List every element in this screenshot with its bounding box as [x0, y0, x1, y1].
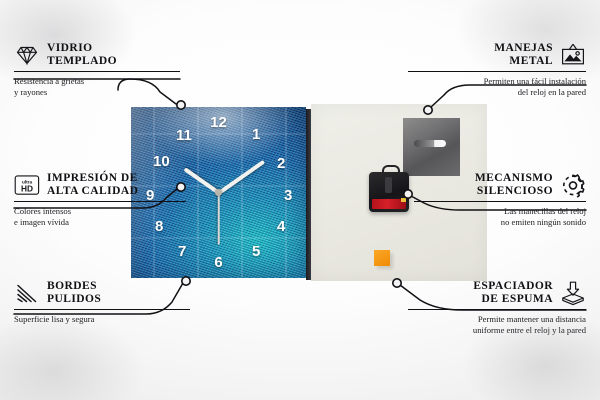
feature-title-line2: DE ESPUMA — [482, 293, 553, 305]
feature-rule — [14, 71, 180, 72]
feature-desc-line1: Resistencia a grietas — [14, 76, 84, 86]
feature-desc-line2: e imagen vívida — [14, 217, 69, 227]
feature-title-line1: BORDES — [47, 280, 97, 292]
feature-manejas-metal: MANEJAS METAL Permiten una fácil instala… — [396, 42, 586, 98]
callout-dot-vidrio — [177, 101, 185, 109]
feature-mecanismo-silencioso: MECANISMO SILENCIOSO Las manecillas del … — [396, 172, 586, 228]
feature-title-line1: MANEJAS — [494, 42, 553, 54]
feature-desc-line2: uniforme entre el reloj y la pared — [473, 325, 586, 335]
feature-rule — [408, 71, 586, 72]
polished-edges-icon — [14, 280, 40, 306]
feature-desc-line2: y rayones — [14, 87, 47, 97]
diamond-icon — [14, 42, 40, 68]
feature-description: Permite mantener una distancia uniforme … — [396, 314, 586, 335]
callout-dot-manejas — [424, 106, 432, 114]
feature-rule — [414, 201, 586, 202]
foam-spacer-arrow-icon — [560, 280, 586, 306]
feature-title: MECANISMO SILENCIOSO — [475, 172, 553, 197]
feature-desc-line1: Colores intensos — [14, 206, 71, 216]
feature-desc-line2: no emiten ningún sonido — [501, 217, 586, 227]
feature-title: VIDRIO TEMPLADO — [47, 42, 117, 67]
feature-description: Las manecillas del reloj no emiten ningú… — [396, 206, 586, 227]
feature-title-line1: VIDRIO — [47, 42, 93, 54]
feature-title-line2: METAL — [509, 55, 553, 67]
svg-text:HD: HD — [21, 183, 33, 193]
feature-description: Permiten una fácil instalación del reloj… — [396, 76, 586, 97]
feature-desc-line1: Permiten una fácil instalación — [484, 76, 586, 86]
ultra-hd-icon: ultra HD — [14, 172, 40, 198]
gear-icon — [560, 172, 586, 198]
feature-rule — [14, 309, 190, 310]
feature-title-line1: IMPRESIÓN DE — [47, 172, 138, 184]
feature-bordes-pulidos: BORDES PULIDOS Superficie lisa y segura — [14, 280, 204, 325]
feature-desc-line1: Las manecillas del reloj — [504, 206, 586, 216]
wall-hanging-picture-icon — [560, 42, 586, 68]
feature-desc-line1: Superficie lisa y segura — [14, 314, 94, 324]
feature-vidrio-templado: VIDRIO TEMPLADO Resistencia a grietas y … — [14, 42, 204, 98]
feature-title: ESPACIADOR DE ESPUMA — [473, 280, 553, 305]
feature-description: Colores intensos e imagen vívida — [14, 206, 204, 227]
feature-title-line2: TEMPLADO — [47, 55, 117, 67]
feature-title: IMPRESIÓN DE ALTA CALIDAD — [47, 172, 138, 197]
feature-desc-line1: Permite mantener una distancia — [478, 314, 586, 324]
feature-title-line1: MECANISMO — [475, 172, 553, 184]
infographic-canvas: 12 1 2 3 4 5 6 7 8 9 10 11 — [0, 0, 600, 400]
feature-title: BORDES PULIDOS — [47, 280, 101, 305]
feature-rule — [408, 309, 586, 310]
feature-espaciador-espuma: ESPACIADOR DE ESPUMA Permite mantener un… — [396, 280, 586, 336]
feature-description: Resistencia a grietas y rayones — [14, 76, 204, 97]
feature-desc-line2: del reloj en la pared — [518, 87, 586, 97]
feature-impresion-alta-calidad: ultra HD IMPRESIÓN DE ALTA CALIDAD Color… — [14, 172, 204, 228]
feature-rule — [14, 201, 186, 202]
feature-title-line2: SILENCIOSO — [477, 185, 553, 197]
feature-title-line2: ALTA CALIDAD — [47, 185, 138, 197]
feature-title-line1: ESPACIADOR — [473, 280, 553, 292]
feature-title-line2: PULIDOS — [47, 293, 101, 305]
feature-description: Superficie lisa y segura — [14, 314, 204, 325]
feature-title: MANEJAS METAL — [494, 42, 553, 67]
